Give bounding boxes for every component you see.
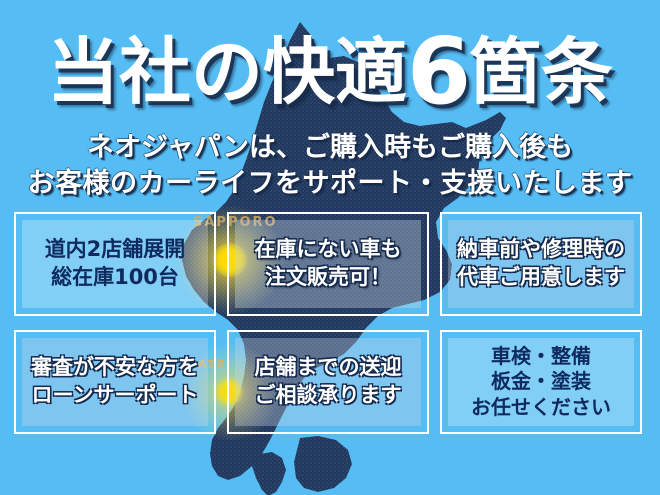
- feature-line: 道内2店舗展開: [45, 236, 186, 264]
- feature-line: 車検・整備: [471, 344, 611, 370]
- page-title-number: 6: [407, 18, 469, 125]
- feature-inspection: 車検・整備 板金・塗装 お任せください: [440, 330, 642, 434]
- feature-line: ご相談承ります: [255, 382, 402, 410]
- feature-stores: 道内2店舗展開 総在庫100台: [14, 212, 216, 316]
- page-title-suffix: 箇条: [469, 30, 613, 114]
- feature-line: 店舗までの送迎: [255, 354, 402, 382]
- subtitle: ネオジャパンは、ご購入時もご購入後も お客様のカーライフをサポート・支援いたしま…: [0, 130, 660, 202]
- feature-line: 板金・塗装: [471, 369, 611, 395]
- feature-line: 総在庫100台: [45, 264, 186, 292]
- feature-order-sale: 在庫にない車も 注文販売可！: [227, 212, 429, 316]
- promotional-banner: SAPPORO ATE 当社の快適6箇条 ネオジャパンは、ご購入時もご購入後も …: [0, 0, 660, 495]
- feature-text: 在庫にない車も 注文販売可！: [255, 236, 402, 291]
- feature-text: 納車前や修理時の 代車ご用意します: [457, 236, 625, 291]
- feature-text: 審査が不安な方を ローンサーポート: [31, 354, 199, 409]
- subtitle-line-1: ネオジャパンは、ご購入時もご購入後も: [0, 130, 660, 166]
- feature-line: 在庫にない車も: [255, 236, 402, 264]
- feature-line: 注文販売可！: [255, 264, 402, 292]
- feature-text: 道内2店舗展開 総在庫100台: [45, 236, 186, 291]
- feature-text: 店舗までの送迎 ご相談承ります: [255, 354, 402, 409]
- feature-line: お任せください: [471, 395, 611, 421]
- feature-row-top: 道内2店舗展開 総在庫100台 在庫にない車も 注文販売可！ 納車前や修理時の …: [14, 212, 646, 316]
- feature-line: ローンサーポート: [31, 382, 199, 410]
- page-title: 当社の快適6箇条: [0, 26, 660, 118]
- subtitle-line-2: お客様のカーライフをサポート・支援いたします: [0, 166, 660, 202]
- feature-line: 審査が不安な方を: [31, 354, 199, 382]
- feature-loan-support: 審査が不安な方を ローンサーポート: [14, 330, 216, 434]
- page-title-prefix: 当社の快適: [47, 30, 407, 114]
- feature-text: 車検・整備 板金・塗装 お任せください: [471, 344, 611, 421]
- feature-loaner-car: 納車前や修理時の 代車ご用意します: [440, 212, 642, 316]
- feature-line: 代車ご用意します: [457, 264, 625, 292]
- feature-pickup: 店舗までの送迎 ご相談承ります: [227, 330, 429, 434]
- feature-line: 納車前や修理時の: [457, 236, 625, 264]
- feature-row-bottom: 審査が不安な方を ローンサーポート 店舗までの送迎 ご相談承ります 車検・整備 …: [14, 330, 646, 434]
- feature-grid: 道内2店舗展開 総在庫100台 在庫にない車も 注文販売可！ 納車前や修理時の …: [14, 212, 646, 434]
